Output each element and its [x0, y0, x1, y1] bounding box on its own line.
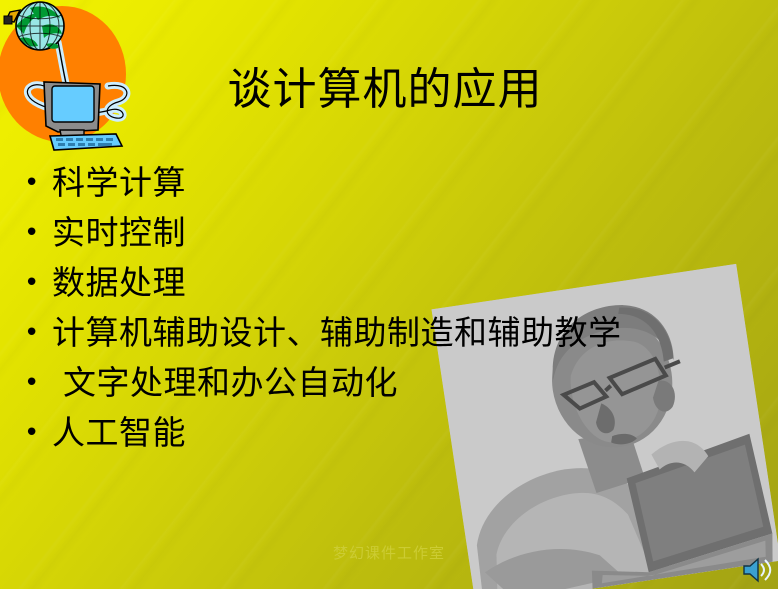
bullet-marker-icon: •: [24, 260, 52, 306]
list-item-label: 实时控制: [52, 210, 186, 256]
list-item: • 计算机辅助设计、辅助制造和辅助教学: [24, 310, 764, 360]
speaker-icon[interactable]: [740, 555, 774, 585]
list-item: • 人工智能: [24, 410, 764, 460]
bullet-marker-icon: •: [24, 410, 52, 456]
footer-watermark: 梦幻课件工作室: [0, 544, 778, 562]
presentation-slide: 谈计算机的应用 • 科学计算 • 实时控制 • 数据处理 • 计算机辅助设计、辅…: [0, 0, 778, 589]
list-item-label: 文字处理和办公自动化: [52, 360, 398, 406]
list-item-label: 数据处理: [52, 260, 186, 306]
globe-computer-illustration: [0, 0, 150, 152]
bullet-list: • 科学计算 • 实时控制 • 数据处理 • 计算机辅助设计、辅助制造和辅助教学…: [24, 160, 764, 460]
bullet-marker-icon: •: [24, 360, 52, 406]
bullet-marker-icon: •: [24, 310, 52, 356]
list-item-label: 人工智能: [52, 410, 186, 456]
list-item: • 科学计算: [24, 160, 764, 210]
list-item: • 实时控制: [24, 210, 764, 260]
list-item-label: 科学计算: [52, 160, 186, 206]
speaker-icon-glyph: [740, 555, 774, 585]
bullet-marker-icon: •: [24, 210, 52, 256]
list-item-label: 计算机辅助设计、辅助制造和辅助教学: [52, 310, 622, 356]
bullet-marker-icon: •: [24, 160, 52, 206]
keyboard-icon: [50, 134, 122, 150]
slide-title: 谈计算机的应用: [150, 64, 620, 116]
list-item: • 数据处理: [24, 260, 764, 310]
list-item: • 文字处理和办公自动化: [24, 360, 764, 410]
globe-computer-clipart: [0, 0, 150, 152]
